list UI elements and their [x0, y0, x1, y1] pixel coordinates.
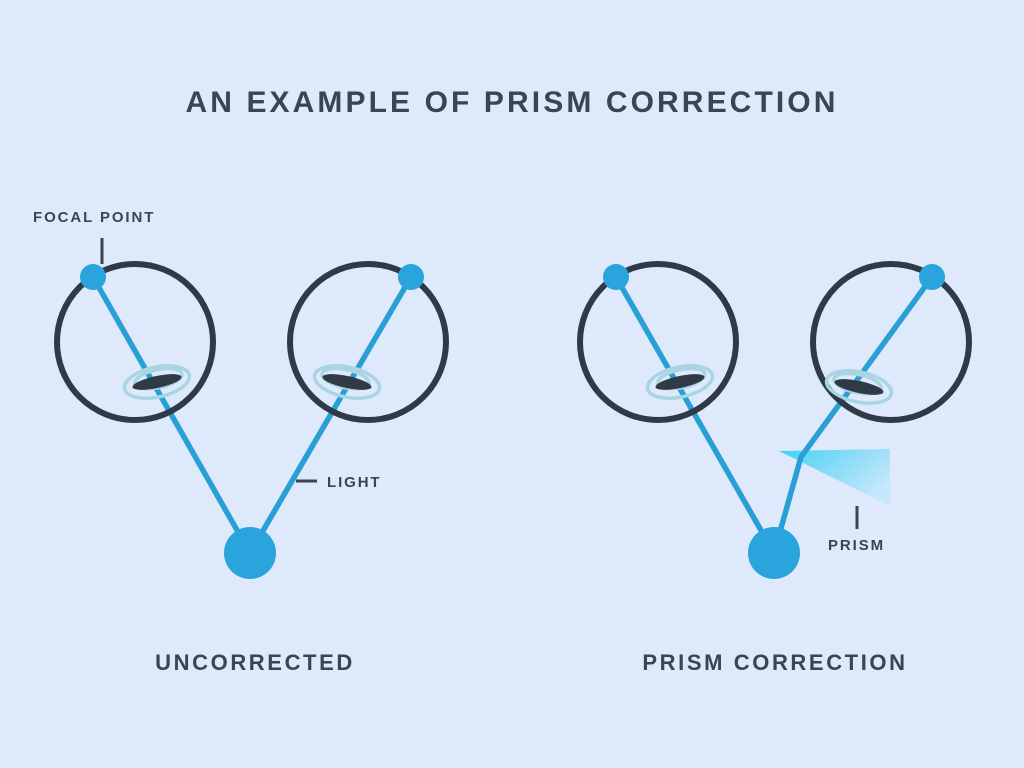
light-source-dot	[224, 527, 276, 579]
eye-left	[580, 264, 736, 420]
focal-point-dot	[80, 264, 106, 290]
focal-point-label: FOCAL POINT	[33, 209, 155, 226]
light-annotation: LIGHT	[296, 474, 382, 491]
focal-point-dot	[919, 264, 945, 290]
panel-prism-correction: PRISM	[580, 264, 969, 579]
prism-label: PRISM	[828, 537, 885, 554]
light-label: LIGHT	[327, 474, 382, 491]
eye-right	[290, 264, 446, 420]
focal-point-annotation: FOCAL POINT	[33, 209, 155, 264]
diagram-canvas: AN EXAMPLE OF PRISM CORRECTION	[0, 0, 1024, 768]
panel-uncorrected: FOCAL POINT LIGHT	[33, 209, 446, 579]
focal-point-dot	[603, 264, 629, 290]
caption-prism-correction: PRISM CORRECTION	[580, 650, 970, 676]
prism-annotation: PRISM	[828, 506, 885, 554]
focal-point-dot	[398, 264, 424, 290]
eye-right	[813, 264, 969, 420]
eye-left	[57, 264, 213, 420]
light-source-dot	[748, 527, 800, 579]
caption-uncorrected: UNCORRECTED	[60, 650, 450, 676]
